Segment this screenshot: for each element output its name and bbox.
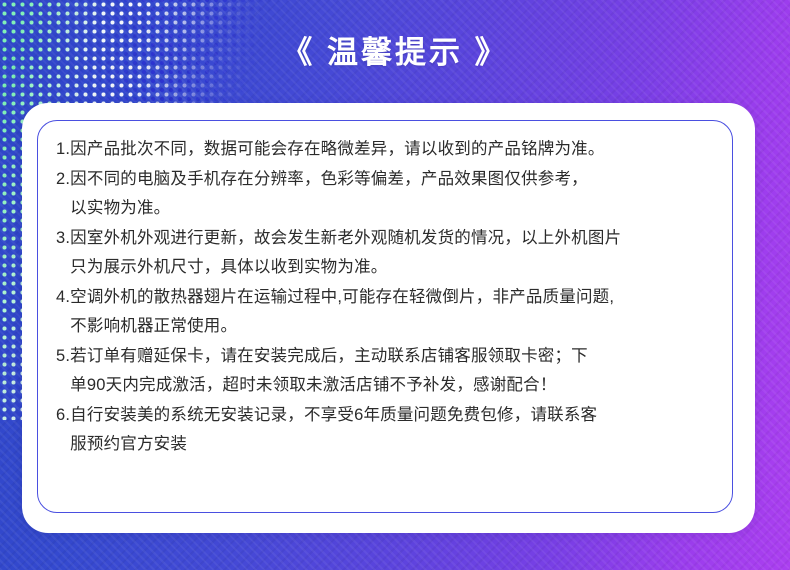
notice-text: 因室外机外观进行更新，故会发生新老外观随机发货的情况，以上外机图片 只为展示外机… (70, 224, 718, 282)
list-item: 5.若订单有赠延保卡，请在安装完成后，主动联系店铺客服领取卡密；下 单90天内完… (56, 342, 718, 400)
list-item: 1.因产品批次不同，数据可能会存在略微差异，请以收到的产品铭牌为准。 (56, 135, 718, 164)
page-title: 《 温馨提示 》 (0, 34, 790, 71)
notice-text: 若订单有赠延保卡，请在安装完成后，主动联系店铺客服领取卡密；下 单90天内完成激… (70, 342, 718, 400)
notice-card-inner-border: 1.因产品批次不同，数据可能会存在略微差异，请以收到的产品铭牌为准。2.因不同的… (37, 120, 733, 513)
list-item: 3.因室外机外观进行更新，故会发生新老外观随机发货的情况，以上外机图片 只为展示… (56, 224, 718, 282)
notice-index: 6. (56, 401, 70, 430)
list-item: 4.空调外机的散热器翅片在运输过程中,可能存在轻微倒片，非产品质量问题, 不影响… (56, 283, 718, 341)
notice-index: 4. (56, 283, 70, 312)
notice-text: 自行安装美的系统无安装记录，不享受6年质量问题免费包修，请联系客 服预约官方安装 (70, 401, 718, 459)
notice-list: 1.因产品批次不同，数据可能会存在略微差异，请以收到的产品铭牌为准。2.因不同的… (56, 135, 718, 460)
notice-text: 因不同的电脑及手机存在分辨率，色彩等偏差，产品效果图仅供参考， 以实物为准。 (70, 165, 718, 223)
notice-text: 因产品批次不同，数据可能会存在略微差异，请以收到的产品铭牌为准。 (70, 135, 718, 164)
notice-text: 空调外机的散热器翅片在运输过程中,可能存在轻微倒片，非产品质量问题, 不影响机器… (70, 283, 718, 341)
notice-card: 1.因产品批次不同，数据可能会存在略微差异，请以收到的产品铭牌为准。2.因不同的… (22, 103, 755, 533)
notice-index: 1. (56, 135, 70, 164)
promo-notice-banner: 《 温馨提示 》 1.因产品批次不同，数据可能会存在略微差异，请以收到的产品铭牌… (0, 0, 790, 570)
notice-index: 5. (56, 342, 70, 371)
notice-index: 2. (56, 165, 70, 194)
list-item: 6.自行安装美的系统无安装记录，不享受6年质量问题免费包修，请联系客 服预约官方… (56, 401, 718, 459)
notice-index: 3. (56, 224, 70, 253)
list-item: 2.因不同的电脑及手机存在分辨率，色彩等偏差，产品效果图仅供参考， 以实物为准。 (56, 165, 718, 223)
